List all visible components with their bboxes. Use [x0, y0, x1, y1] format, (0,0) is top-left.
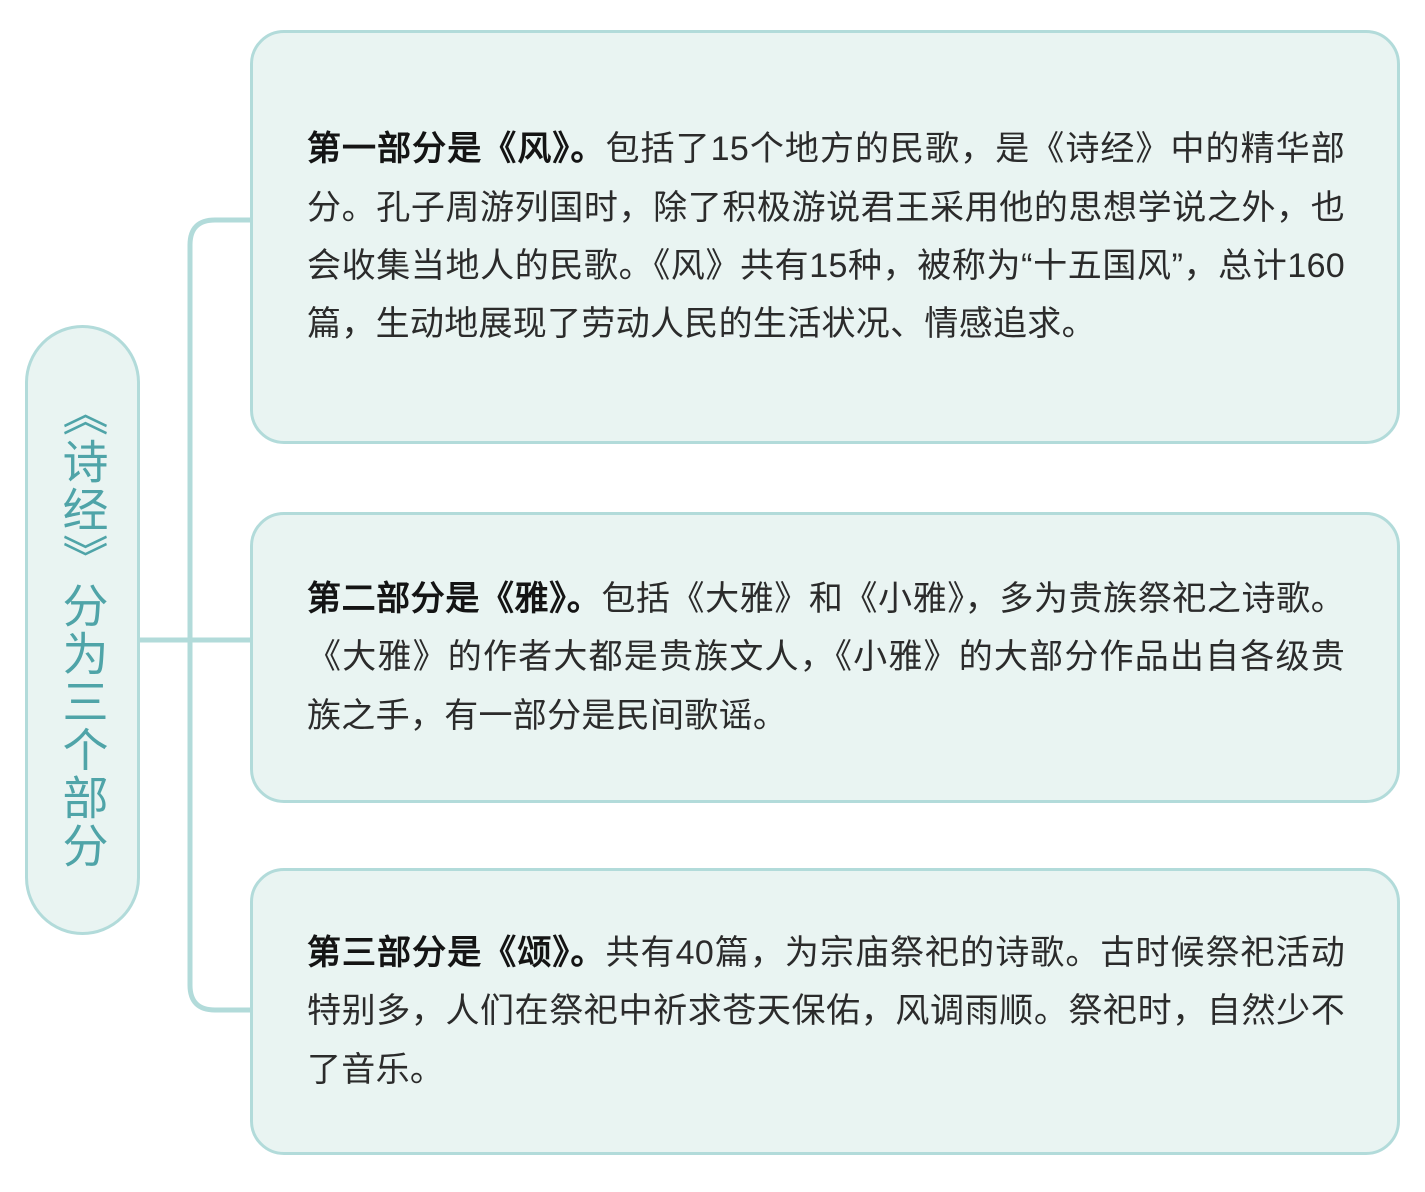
connector-branch-1: [190, 220, 252, 245]
branch-card-song-text: 第三部分是《颂》。共有40篇，为宗庙祭祀的诗歌。古时候祭祀活动特别多，人们在祭祀…: [307, 924, 1345, 1099]
branch-card-ya-text: 第二部分是《雅》。包括《大雅》和《小雅》，多为贵族祭祀之诗歌。《大雅》的作者大都…: [307, 570, 1345, 745]
branch-card-ya-lead: 第二部分是《雅》。: [307, 580, 601, 618]
branch-card-feng-lead: 第一部分是《风》。: [307, 130, 606, 168]
branch-card-song[interactable]: 第三部分是《颂》。共有40篇，为宗庙祭祀的诗歌。古时候祭祀活动特别多，人们在祭祀…: [250, 868, 1400, 1155]
root-node[interactable]: 《诗经》分为三个部分: [25, 325, 140, 935]
branch-card-ya[interactable]: 第二部分是《雅》。包括《大雅》和《小雅》，多为贵族祭祀之诗歌。《大雅》的作者大都…: [250, 512, 1400, 803]
connector-branch-3: [190, 985, 252, 1010]
root-node-label: 《诗经》分为三个部分: [54, 390, 110, 870]
branch-card-song-lead: 第三部分是《颂》。: [307, 934, 606, 972]
mindmap-diagram: 《诗经》分为三个部分 第一部分是《风》。包括了15个地方的民歌，是《诗经》中的精…: [0, 0, 1425, 1192]
branch-card-feng-text: 第一部分是《风》。包括了15个地方的民歌，是《诗经》中的精华部分。孔子周游列国时…: [307, 120, 1345, 354]
branch-card-feng[interactable]: 第一部分是《风》。包括了15个地方的民歌，是《诗经》中的精华部分。孔子周游列国时…: [250, 30, 1400, 444]
